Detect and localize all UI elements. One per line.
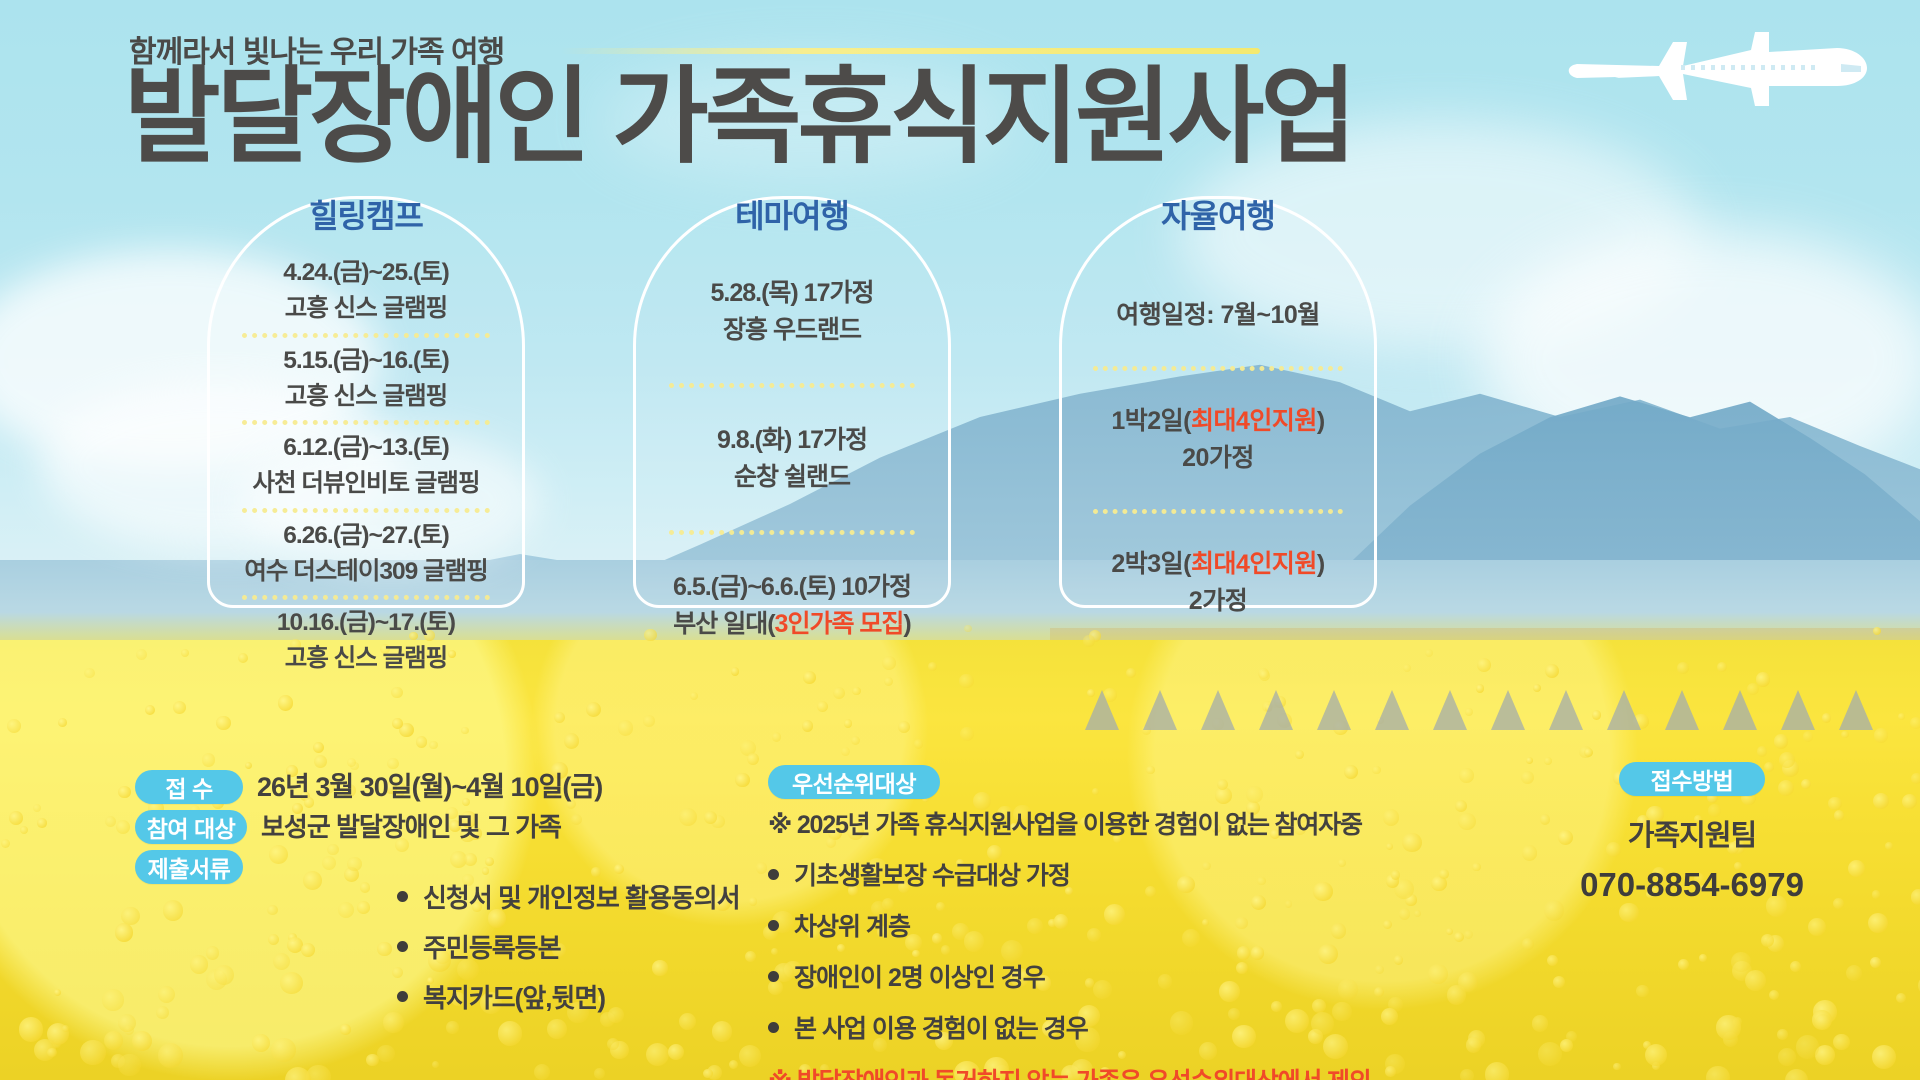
card-title: 힐링캠프 <box>293 189 439 241</box>
schedule-place: 여수 더스테이309 글램핑 <box>210 554 522 590</box>
petal <box>118 1054 140 1076</box>
petal <box>1532 1015 1549 1032</box>
petal <box>104 1031 123 1050</box>
petal <box>1778 1048 1796 1066</box>
petal <box>132 1031 152 1051</box>
card-title-wrap: 힐링캠프 <box>210 189 522 241</box>
petal <box>252 1034 270 1052</box>
contact-phone: 070-8854-6979 <box>1492 866 1892 904</box>
card-title: 테마여행 <box>719 189 865 241</box>
contact-team: 가족지원팀 <box>1492 812 1892 854</box>
petal <box>1731 952 1751 972</box>
petal <box>1485 1062 1510 1080</box>
dotted-divider <box>1093 509 1343 514</box>
schedule-date: 5.28.(목) 17가정 <box>636 275 948 312</box>
petal <box>268 934 279 945</box>
petal <box>47 1048 56 1057</box>
petal <box>594 1068 605 1079</box>
petal <box>278 695 293 710</box>
priority-item-label: 기초생활보장 수급대상 가정 <box>794 856 1070 892</box>
petal <box>1547 955 1558 966</box>
petal <box>84 668 94 678</box>
petal <box>1873 627 1882 636</box>
petal <box>102 989 123 1010</box>
petal <box>747 753 759 765</box>
petal <box>1911 889 1920 904</box>
petal <box>1868 913 1889 934</box>
priority-item: 기초생활보장 수급대상 가정 <box>768 856 1488 892</box>
bullet-icon <box>397 941 408 952</box>
schedule-date: 5.15.(금)~16.(토) <box>210 343 522 379</box>
petal <box>703 1069 713 1079</box>
petal <box>80 1040 105 1065</box>
card-body: 여행일정: 7월~10월1박2일(최대4인지원)20가정2박3일(최대4인지원)… <box>1062 297 1374 620</box>
petal <box>1083 635 1095 647</box>
target-value: 보성군 발달장애인 및 그 가족 <box>261 810 561 844</box>
petal <box>1699 954 1707 962</box>
highlight-red-text: 3인가족 모집 <box>775 610 904 638</box>
petal <box>745 951 756 962</box>
petal <box>1592 710 1602 720</box>
schedule-date: 6.26.(금)~27.(토) <box>210 518 522 554</box>
petal <box>1584 748 1594 758</box>
petal <box>1522 938 1534 950</box>
petal <box>534 1064 551 1080</box>
schedule-date: 여행일정: 7월~10월 <box>1062 297 1374 334</box>
petal <box>202 753 216 767</box>
document-item: 신청서 및 개인정보 활용동의서 <box>397 878 740 915</box>
schedule-place: 사천 더뷰인비토 글램핑 <box>210 466 522 502</box>
petal <box>959 674 974 689</box>
schedule-place: 순창 쉴랜드 <box>636 459 948 496</box>
petal <box>884 677 893 686</box>
petal <box>1465 708 1473 716</box>
card-title-wrap: 테마여행 <box>636 189 948 241</box>
petal <box>851 736 860 745</box>
petal <box>1545 664 1559 678</box>
petal <box>1613 1063 1620 1070</box>
priority-warning: ※ 발달장애인과 동거하지 않는 가족은 우선순위대상에서 제외 <box>768 1062 1488 1080</box>
petal <box>729 1060 738 1069</box>
petal <box>338 902 354 918</box>
petal <box>803 671 816 684</box>
priority-item: 차상위 계층 <box>768 907 1488 943</box>
document-list: 신청서 및 개인정보 활용동의서주민등록등본복지카드(앞,뒷면) <box>397 878 740 1028</box>
badge-target: 참여 대상 <box>135 810 247 844</box>
card-title-label: 테마여행 <box>735 198 849 234</box>
petal <box>429 741 438 750</box>
petal <box>1774 734 1789 749</box>
priority-item: 장애인이 2명 이상인 경우 <box>768 958 1488 994</box>
petal <box>461 727 469 735</box>
dotted-divider <box>242 508 490 513</box>
petal <box>1911 773 1920 784</box>
petal <box>7 719 21 733</box>
petal <box>1769 990 1779 1000</box>
petal <box>105 816 116 827</box>
petal <box>1403 664 1411 672</box>
badge-priority: 우선순위대상 <box>768 765 940 799</box>
petal <box>62 1025 69 1032</box>
bullet-icon <box>768 920 779 931</box>
schedule-date: 4.24.(금)~25.(토) <box>210 255 522 291</box>
petal <box>964 625 971 632</box>
petal <box>898 721 910 733</box>
program-card-free-trip: 자율여행 여행일정: 7월~10월1박2일(최대4인지원)20가정2박3일(최대… <box>1059 196 1377 608</box>
petal <box>216 716 230 730</box>
bullet-icon <box>397 991 408 1002</box>
petal <box>772 732 782 742</box>
priority-item-label: 장애인이 2명 이상인 경우 <box>794 958 1045 994</box>
badge-documents: 제출서류 <box>135 850 243 884</box>
petal <box>314 755 327 768</box>
petal <box>271 1038 296 1063</box>
schedule-date: 1박2일(최대4인지원) <box>1062 403 1374 440</box>
petal <box>366 1054 378 1066</box>
document-label: 신청서 및 개인정보 활용동의서 <box>423 878 740 915</box>
petal <box>882 656 895 669</box>
info-row-reception: 접 수 26년 3월 30일(월)~4월 10일(금) <box>135 770 755 804</box>
petal <box>643 715 655 727</box>
schedule-place: 고흥 신스 글램핑 <box>210 379 522 415</box>
petal <box>1803 731 1814 742</box>
petal <box>841 747 850 756</box>
petal <box>181 649 189 657</box>
petal <box>214 965 234 985</box>
petal <box>392 718 403 729</box>
petal <box>1636 985 1649 998</box>
schedule-place: 고흥 신스 글램핑 <box>210 291 522 327</box>
petal <box>1425 649 1433 657</box>
petal <box>377 1045 394 1062</box>
program-card-healing-camp: 힐링캠프 4.24.(금)~25.(토)고흥 신스 글램핑5.15.(금)~16… <box>207 196 525 608</box>
card-title-wrap: 자율여행 <box>1062 189 1374 241</box>
petal <box>158 986 176 1004</box>
petal <box>301 943 315 957</box>
dotted-divider <box>669 383 915 388</box>
schedule-place: 고흥 신스 글램핑 <box>210 641 522 677</box>
document-label: 복지카드(앞,뒷면) <box>423 978 605 1015</box>
petal <box>1896 993 1906 1003</box>
info-row-target: 참여 대상 보성군 발달장애인 및 그 가족 <box>135 810 755 844</box>
program-card-theme-trip: 테마여행 5.28.(목) 17가정장흥 우드랜드9.8.(화) 17가정순창 … <box>633 196 951 608</box>
priority-note: ※ 2025년 가족 휴식지원사업을 이용한 경험이 없는 참여자중 <box>768 805 1488 841</box>
petal <box>1087 689 1095 697</box>
contact-block: 접수방법 가족지원팀 070-8854-6979 <box>1492 762 1892 904</box>
petal <box>618 720 634 736</box>
petal <box>245 762 252 769</box>
petal <box>1757 746 1767 756</box>
petal <box>1747 683 1759 695</box>
document-item: 주민등록등본 <box>397 928 740 965</box>
petal <box>115 923 134 942</box>
petal <box>20 826 28 834</box>
priority-item-label: 차상위 계층 <box>794 907 910 943</box>
petal <box>1560 1039 1574 1053</box>
petal <box>1846 965 1862 981</box>
petal <box>1295 750 1304 759</box>
petal <box>280 972 302 994</box>
petal <box>1841 731 1848 738</box>
bullet-icon <box>768 971 779 982</box>
dotted-divider <box>669 530 915 535</box>
schedule-place: 부산 일대(3인가족 모집) <box>636 606 948 643</box>
card-body: 5.28.(목) 17가정장흥 우드랜드9.8.(화) 17가정순창 쉴랜드6.… <box>636 275 948 643</box>
priority-item-label: 본 사업 이용 경험이 없는 경우 <box>794 1009 1088 1045</box>
document-label: 주민등록등본 <box>423 928 561 965</box>
petal <box>554 712 565 723</box>
petal <box>1706 1066 1729 1080</box>
reception-period: 26년 3월 30일(월)~4월 10일(금) <box>257 770 602 804</box>
petal <box>1808 918 1826 936</box>
petal <box>668 1044 684 1060</box>
petal <box>33 804 41 812</box>
petal <box>377 942 392 957</box>
petal <box>1790 961 1801 972</box>
schedule-place: 장흥 우드랜드 <box>636 312 948 349</box>
petal <box>156 1006 169 1019</box>
header-rule <box>560 48 1260 54</box>
card-title-label: 자율여행 <box>1161 198 1275 234</box>
schedule-date: 9.8.(화) 17가정 <box>636 422 948 459</box>
petal <box>1822 713 1831 722</box>
petal <box>1678 959 1689 970</box>
petal <box>1902 794 1917 809</box>
petal <box>118 786 131 799</box>
petal <box>387 758 398 769</box>
petal <box>163 900 183 920</box>
dotted-divider <box>242 333 490 338</box>
petal <box>1717 662 1727 672</box>
petal <box>1 839 10 848</box>
priority-item-list: 기초생활보장 수급대상 가정차상위 계층장애인이 2명 이상인 경우본 사업 이… <box>768 856 1488 1045</box>
petal <box>1796 1035 1819 1058</box>
schedule-date: 6.12.(금)~13.(토) <box>210 430 522 466</box>
petal <box>116 820 130 834</box>
petal <box>432 1061 439 1068</box>
schedule-place: 2가정 <box>1062 583 1374 620</box>
petal <box>960 727 974 741</box>
badge-reception: 접 수 <box>135 770 243 804</box>
petal <box>1477 658 1491 672</box>
petal <box>802 720 814 732</box>
petal <box>158 1043 183 1068</box>
petal <box>1553 976 1565 988</box>
document-item: 복지카드(앞,뒷면) <box>397 978 740 1015</box>
petal <box>190 955 208 973</box>
petal <box>1476 684 1485 693</box>
schedule-date: 6.5.(금)~6.6.(토) 10가정 <box>636 569 948 606</box>
bullet-icon <box>397 891 408 902</box>
bullet-icon <box>768 869 779 880</box>
petal <box>844 719 852 727</box>
highlight-red-text: 최대4인지원 <box>1191 550 1317 578</box>
dotted-divider <box>242 595 490 600</box>
petal <box>1777 1029 1788 1040</box>
petal <box>1533 684 1541 692</box>
petal <box>340 1024 350 1034</box>
card-title: 자율여행 <box>1145 189 1291 241</box>
dotted-divider <box>242 420 490 425</box>
petal <box>9 811 23 825</box>
petal <box>817 701 828 712</box>
petal <box>690 692 698 700</box>
petal <box>391 687 402 698</box>
poster-root: 함께라서 빛나는 우리 가족 여행 발달장애인 가족휴식지원사업 힐링캠프 4.… <box>0 0 1920 1080</box>
highlight-red-text: 최대4인지원 <box>1191 407 1317 435</box>
petal <box>19 1017 44 1042</box>
petal <box>1716 1015 1740 1039</box>
schedule-date: 2박3일(최대4인지원) <box>1062 546 1374 583</box>
petal <box>58 718 67 727</box>
petal <box>1745 970 1766 991</box>
petal <box>1259 670 1271 682</box>
bullet-icon <box>768 1022 779 1033</box>
badge-how-to-apply: 접수방법 <box>1619 762 1765 796</box>
petal <box>1619 903 1639 923</box>
petal <box>852 687 860 695</box>
petal <box>37 818 47 828</box>
petal <box>1815 1014 1831 1030</box>
petal <box>54 989 61 996</box>
petal <box>756 862 768 874</box>
petal <box>173 701 186 714</box>
petal <box>273 953 290 970</box>
petal <box>313 742 324 753</box>
dotted-divider <box>1093 366 1343 371</box>
card-body: 4.24.(금)~25.(토)고흥 신스 글램핑5.15.(금)~16.(토)고… <box>210 255 522 678</box>
petal <box>1126 668 1136 678</box>
petal <box>267 905 278 916</box>
petal <box>739 1045 761 1067</box>
priority-item: 본 사업 이용 경험이 없는 경우 <box>768 1009 1488 1045</box>
priority-block: 우선순위대상 ※ 2025년 가족 휴식지원사업을 이용한 경험이 없는 참여자… <box>768 765 1488 1080</box>
schedule-place: 20가정 <box>1062 440 1374 477</box>
card-title-label: 힐링캠프 <box>309 198 423 234</box>
petal <box>1870 957 1881 968</box>
petal <box>731 667 739 675</box>
petal <box>357 901 370 914</box>
petal <box>206 946 220 960</box>
petal <box>1538 1042 1562 1066</box>
petal <box>1872 1045 1897 1070</box>
application-info-block: 접 수 26년 3월 30일(월)~4월 10일(금) 참여 대상 보성군 발달… <box>135 770 755 890</box>
petal <box>1677 662 1689 674</box>
page-title: 발달장애인 가족휴식지원사업 <box>124 60 1353 176</box>
petal <box>928 662 937 671</box>
petal <box>1645 1044 1667 1066</box>
petal <box>136 649 147 660</box>
petal <box>1874 728 1889 743</box>
petal <box>416 736 428 748</box>
petal <box>1785 1069 1808 1080</box>
petal <box>749 897 757 905</box>
petal <box>564 733 580 749</box>
petal <box>1898 713 1905 720</box>
petal <box>145 705 155 715</box>
airplane-icon <box>1555 20 1875 130</box>
petal <box>586 702 601 717</box>
petal <box>833 687 845 699</box>
petal <box>1910 717 1920 730</box>
petal <box>914 739 923 748</box>
petal <box>1833 1034 1849 1050</box>
petal <box>646 1043 669 1066</box>
schedule-date: 10.16.(금)~17.(토) <box>210 605 522 641</box>
